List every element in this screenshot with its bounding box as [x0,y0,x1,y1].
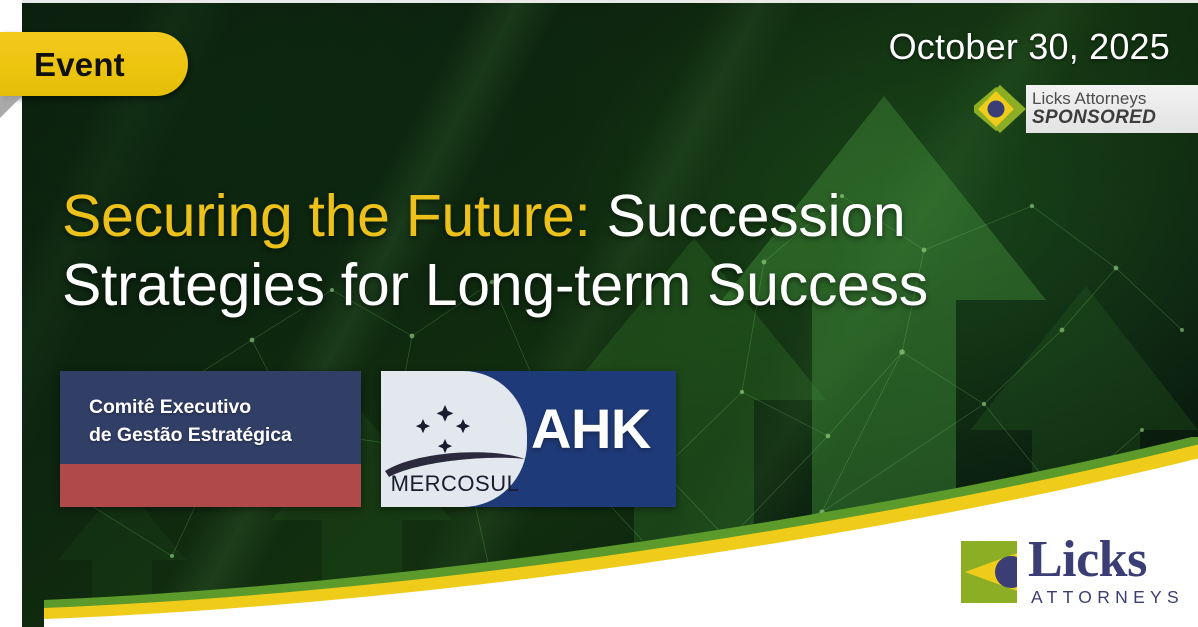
comite-line2: de Gestão Estratégica [89,421,349,449]
sponsored-strip: Licks Attorneys SPONSORED [1026,85,1198,133]
event-badge[interactable]: Event [0,32,200,100]
headline-line2: Strategies for Long-term Success [62,252,928,318]
mercosul-emblem-icon: MERCOSUL [383,385,527,497]
headline-line1-rest: Succession [591,183,906,249]
partner-logo-ahk-mercosul[interactable]: MERCOSUL AHK [381,371,676,507]
ahk-wordmark: AHK [531,401,651,457]
headline-accent: Securing the Future: [62,183,591,249]
partner-logo-comite-executivo[interactable]: Comitê Executivo de Gestão Estratégica [60,371,361,507]
svg-text:MERCOSUL: MERCOSUL [391,471,520,496]
event-badge-label: Event [34,48,125,81]
event-date: October 30, 2025 [889,26,1170,68]
event-badge-body: Event [0,32,188,96]
comite-line1: Comitê Executivo [89,393,349,421]
sponsor-brand: Licks Attorneys [1032,90,1184,108]
licks-brazil-flag-icon [961,541,1017,603]
comite-red-bar [60,464,361,507]
licks-name: Licks [1028,535,1184,584]
sponsor-status: SPONSORED [1032,108,1184,128]
licks-diamond-icon [974,85,1026,133]
licks-wordmark: Licks ATTORNEYS [1028,535,1184,609]
top-rule [22,0,1198,3]
event-badge-fold [0,96,22,118]
headline: Securing the Future: Succession Strategi… [62,182,1122,320]
sponsored-badge[interactable]: Licks Attorneys SPONSORED [974,85,1198,133]
licks-attorneys-logo[interactable]: Licks ATTORNEYS [961,535,1184,609]
event-banner: Event October 30, 2025 Licks Attorneys S… [0,0,1198,627]
comite-executivo-text: Comitê Executivo de Gestão Estratégica [89,393,349,450]
licks-subtitle: ATTORNEYS [1028,585,1184,610]
